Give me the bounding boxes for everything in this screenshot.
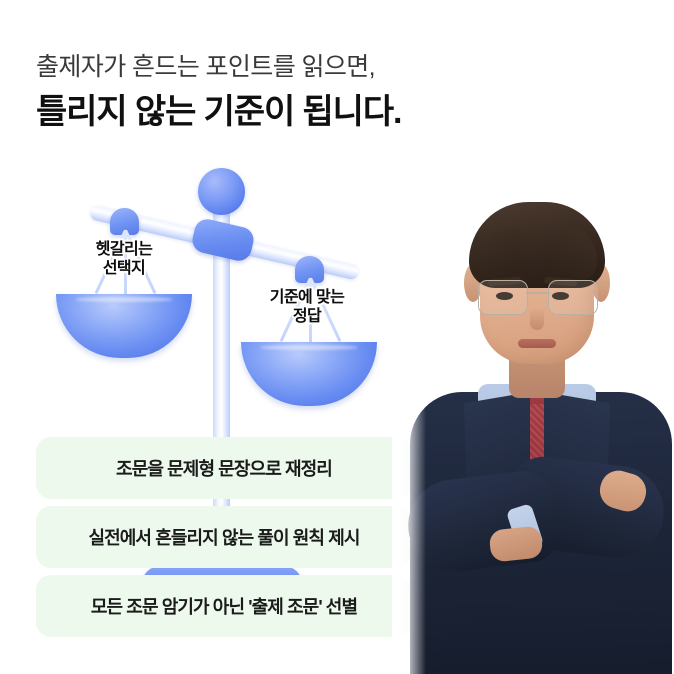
scale-pan-right-bowl: [241, 342, 377, 406]
scale-label-right-line-2: 정답: [232, 307, 382, 326]
balance-scale-illustration: 헷갈리는 선택지 기준에 맞는 정답: [45, 160, 405, 445]
feature-item-label: 조문을 문제형 문장으로 재정리: [116, 455, 332, 481]
headline-line-1: 출제자가 흔드는 포인트를 읽으면,: [36, 48, 556, 86]
headline-block: 출제자가 흔드는 포인트를 읽으면, 틀리지 않는 기준이 됩니다.: [36, 48, 556, 136]
feature-item: 실전에서 흔들리지 않는 풀이 원칙 제시: [36, 506, 412, 568]
scale-label-right-line-1: 기준에 맞는: [232, 288, 382, 307]
scale-label-left-line-2: 선택지: [49, 259, 199, 278]
feature-list: 조문을 문제형 문장으로 재정리 실전에서 흔들리지 않는 풀이 원칙 제시 모…: [36, 437, 412, 644]
feature-item: 모든 조문 암기가 아닌 '출제 조문' 선별: [36, 575, 412, 637]
scale-pan-left-bowl: [56, 294, 192, 358]
scale-label-right: 기준에 맞는 정답: [232, 288, 382, 326]
promo-banner: 출제자가 흔드는 포인트를 읽으면, 틀리지 않는 기준이 됩니다. 헷갈리는 …: [0, 0, 674, 674]
scale-label-left-line-1: 헷갈리는: [49, 240, 199, 259]
mouth: [518, 339, 556, 348]
feature-item-label: 모든 조문 암기가 아닌 '출제 조문' 선별: [91, 593, 357, 619]
scale-top-knob-icon: [198, 168, 245, 215]
scale-label-left: 헷갈리는 선택지: [49, 240, 199, 278]
photo-edge-fade: [392, 176, 426, 674]
headline-line-2: 틀리지 않는 기준이 됩니다.: [36, 88, 556, 136]
nose: [530, 308, 544, 330]
feature-item: 조문을 문제형 문장으로 재정리: [36, 437, 412, 499]
feature-item-label: 실전에서 흔들리지 않는 풀이 원칙 제시: [88, 524, 359, 550]
instructor-photo: [392, 176, 674, 674]
hair: [469, 202, 605, 288]
